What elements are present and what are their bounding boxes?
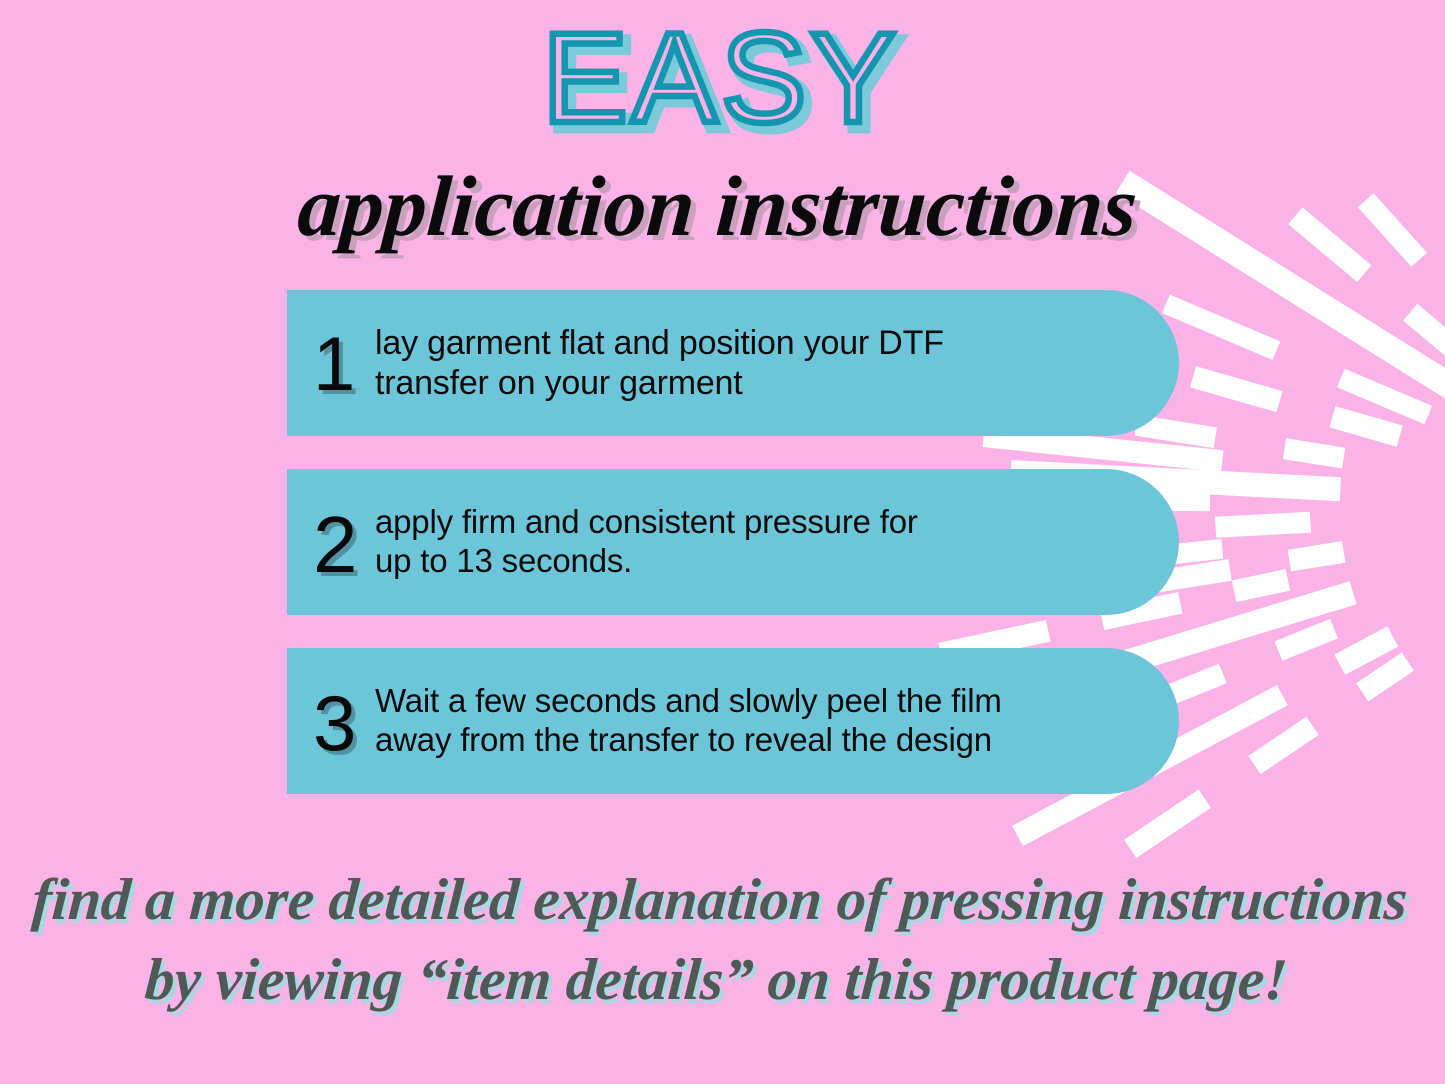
- footer-script-text: find a more detailed explanation of pres…: [0, 855, 1445, 1035]
- step-text-3: Wait a few seconds and slowly peel the f…: [375, 682, 1002, 760]
- title-easy-outline: EASY: [542, 14, 900, 150]
- subtitle-text: application instructions: [294, 158, 1139, 254]
- subtitle-container: application instructions application ins…: [0, 158, 1445, 275]
- step-text-1: lay garment flat and position your DTF t…: [375, 323, 944, 403]
- step-number-1: 1: [313, 329, 375, 401]
- footer-container: find a more detailed explanation of pres…: [0, 855, 1445, 1035]
- step-text-2: apply firm and consistent pressure for u…: [375, 503, 918, 581]
- sunburst-ray-segment: [1288, 541, 1346, 571]
- step-item-3: 3 Wait a few seconds and slowly peel the…: [287, 648, 1179, 794]
- sunburst-ray-segment: [1329, 406, 1402, 447]
- sunburst-ray-segment: [1162, 295, 1280, 360]
- step-text-3-line-1: Wait a few seconds and slowly peel the f…: [375, 682, 1002, 721]
- step-item-1: 1 lay garment flat and position your DTF…: [287, 290, 1179, 436]
- step-text-2-line-1: apply firm and consistent pressure for: [375, 503, 918, 542]
- sunburst-ray-segment: [1334, 626, 1398, 675]
- footer-line-2: by viewing “item details” on this produc…: [143, 946, 1290, 1012]
- sunburst-ray-segment: [1356, 653, 1414, 702]
- title-easy-container: EASY EASY: [0, 14, 1445, 164]
- step-text-1-line-1: lay garment flat and position your DTF: [375, 323, 944, 363]
- sunburst-ray-segment: [1190, 366, 1283, 412]
- title-easy: EASY EASY: [523, 14, 923, 159]
- steps-list: 1 lay garment flat and position your DTF…: [287, 290, 1179, 827]
- sunburst-ray-segment: [1215, 512, 1311, 538]
- subtitle-application-instructions: application instructions application ins…: [243, 158, 1203, 270]
- step-text-3-line-2: away from the transfer to reveal the des…: [375, 721, 1002, 760]
- footer-line-1: find a more detailed explanation of pres…: [30, 866, 1410, 932]
- sunburst-ray-segment: [1275, 619, 1339, 661]
- poster-canvas: EASY EASY application instructions appli…: [0, 0, 1445, 1084]
- step-number-2: 2: [313, 507, 375, 583]
- sunburst-ray-segment: [1283, 438, 1346, 468]
- sunburst-ray-segment: [1337, 369, 1432, 425]
- step-text-1-line-2: transfer on your garment: [375, 363, 944, 403]
- step-text-2-line-2: up to 13 seconds.: [375, 542, 918, 581]
- sunburst-ray-segment: [1248, 717, 1318, 774]
- sunburst-ray-segment: [1232, 569, 1290, 602]
- sunburst-ray-segment: [1403, 304, 1445, 366]
- step-number-3: 3: [313, 686, 375, 760]
- step-item-2: 2 apply firm and consistent pressure for…: [287, 469, 1179, 615]
